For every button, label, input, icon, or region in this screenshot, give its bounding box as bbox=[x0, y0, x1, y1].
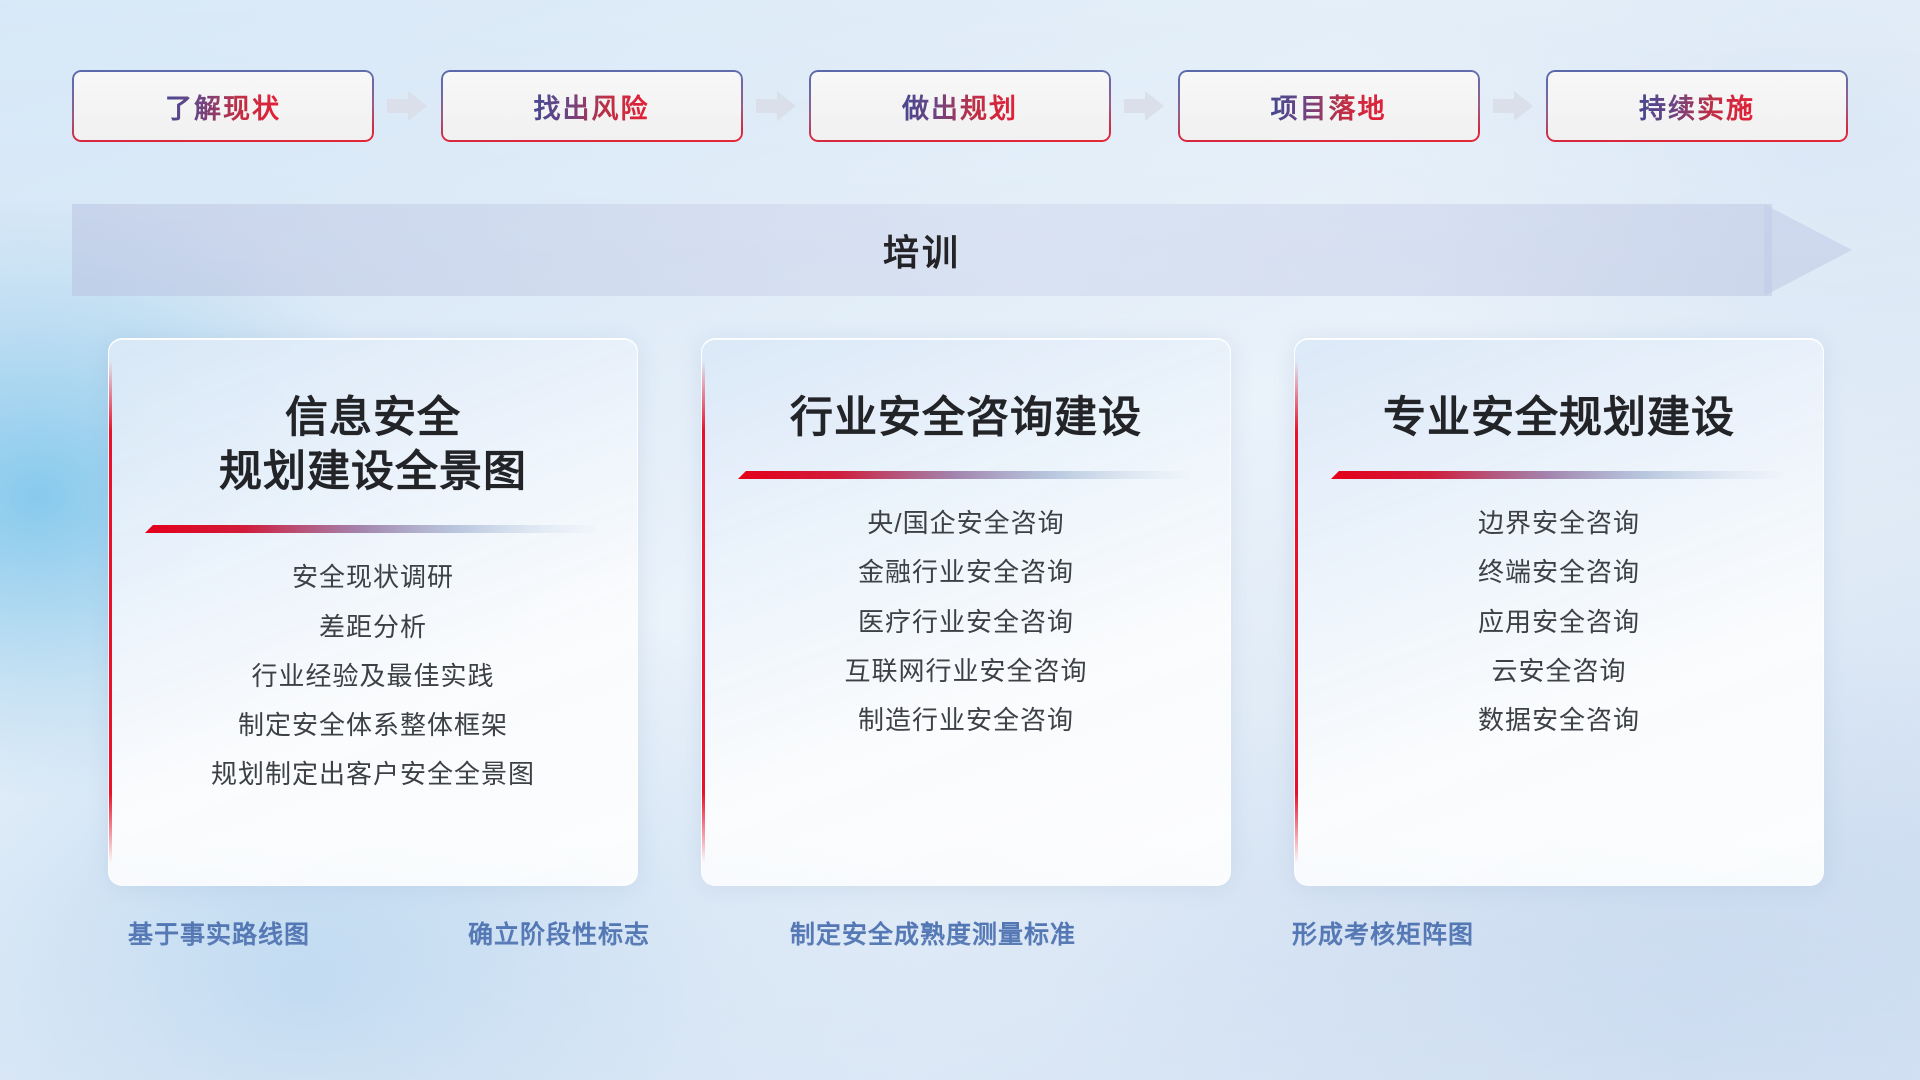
card-list-item: 应用安全咨询 bbox=[1478, 607, 1640, 638]
card-item-list: 央/国企安全咨询金融行业安全咨询医疗行业安全咨询互联网行业安全咨询制造行业安全咨… bbox=[702, 508, 1230, 736]
banner-title: 培训 bbox=[72, 204, 1772, 296]
footnote-label-2: 确立阶段性标志 bbox=[468, 915, 650, 951]
card-divider-icon bbox=[732, 471, 1190, 480]
card-list-item: 央/国企安全咨询 bbox=[867, 508, 1064, 539]
card-list-item: 终端安全咨询 bbox=[1478, 557, 1640, 588]
service-card-2[interactable]: 行业安全咨询建设 央/国企安全咨询金融行业安全咨询医疗行业安全咨询互联网行业安全… bbox=[701, 338, 1231, 886]
card-list-item: 边界安全咨询 bbox=[1478, 508, 1640, 539]
process-step-label: 项目落地 bbox=[1271, 87, 1387, 126]
card-list-item: 制定安全体系整体框架 bbox=[238, 710, 508, 741]
card-title: 信息安全 规划建设全景图 bbox=[145, 339, 601, 499]
card-list-item: 医疗行业安全咨询 bbox=[858, 607, 1074, 638]
arrow-right-icon bbox=[743, 89, 810, 123]
card-list-item: 云安全咨询 bbox=[1491, 656, 1626, 687]
card-list-item: 金融行业安全咨询 bbox=[858, 557, 1074, 588]
footnote-label-1: 基于事实路线图 bbox=[128, 915, 310, 951]
footnote-row: 基于事实路线图确立阶段性标志制定安全成熟度测量标准形成考核矩阵图 bbox=[0, 915, 1920, 963]
process-step-label: 找出风险 bbox=[534, 87, 650, 126]
process-step-label: 了解现状 bbox=[165, 87, 281, 126]
banner-arrowhead-icon bbox=[1764, 188, 1852, 312]
process-step-3[interactable]: 做出规划 bbox=[809, 70, 1111, 142]
training-banner: 培训 bbox=[72, 204, 1852, 296]
process-step-5[interactable]: 持续实施 bbox=[1546, 70, 1848, 142]
slide-canvas: 了解现状 找出风险 做出规划 项目落地 持续实施 培训 信息安全 规划建设全景图 bbox=[0, 0, 1920, 1080]
arrow-right-icon bbox=[1480, 89, 1547, 123]
arrow-right-icon bbox=[1111, 89, 1178, 123]
card-item-list: 边界安全咨询终端安全咨询应用安全咨询云安全咨询数据安全咨询 bbox=[1295, 508, 1823, 736]
card-title: 行业安全咨询建设 bbox=[738, 339, 1194, 445]
footnote-label-3: 制定安全成熟度测量标准 bbox=[790, 915, 1076, 951]
card-list-item: 规划制定出客户安全全景图 bbox=[211, 759, 535, 790]
service-card-1[interactable]: 信息安全 规划建设全景图 安全现状调研差距分析行业经验及最佳实践制定安全体系整体… bbox=[108, 338, 638, 886]
footnote-label-4: 形成考核矩阵图 bbox=[1292, 915, 1474, 951]
card-list-item: 行业经验及最佳实践 bbox=[251, 661, 494, 692]
card-list-item: 差距分析 bbox=[319, 612, 427, 643]
process-step-2[interactable]: 找出风险 bbox=[441, 70, 743, 142]
card-list-item: 安全现状调研 bbox=[292, 562, 454, 593]
card-list-item: 数据安全咨询 bbox=[1478, 705, 1640, 736]
process-step-label: 持续实施 bbox=[1639, 87, 1755, 126]
card-row: 信息安全 规划建设全景图 安全现状调研差距分析行业经验及最佳实践制定安全体系整体… bbox=[108, 338, 1824, 886]
process-step-row: 了解现状 找出风险 做出规划 项目落地 持续实施 bbox=[72, 70, 1848, 142]
card-divider-icon bbox=[1325, 471, 1783, 480]
process-step-4[interactable]: 项目落地 bbox=[1178, 70, 1480, 142]
card-title: 专业安全规划建设 bbox=[1331, 339, 1787, 445]
card-list-item: 制造行业安全咨询 bbox=[858, 705, 1074, 736]
process-step-1[interactable]: 了解现状 bbox=[72, 70, 374, 142]
service-card-3[interactable]: 专业安全规划建设 边界安全咨询终端安全咨询应用安全咨询云安全咨询数据安全咨询 bbox=[1294, 338, 1824, 886]
card-item-list: 安全现状调研差距分析行业经验及最佳实践制定安全体系整体框架规划制定出客户安全全景… bbox=[109, 562, 637, 790]
card-list-item: 互联网行业安全咨询 bbox=[844, 656, 1087, 687]
arrow-right-icon bbox=[374, 89, 441, 123]
card-divider-icon bbox=[139, 525, 597, 534]
process-step-label: 做出规划 bbox=[902, 87, 1018, 126]
